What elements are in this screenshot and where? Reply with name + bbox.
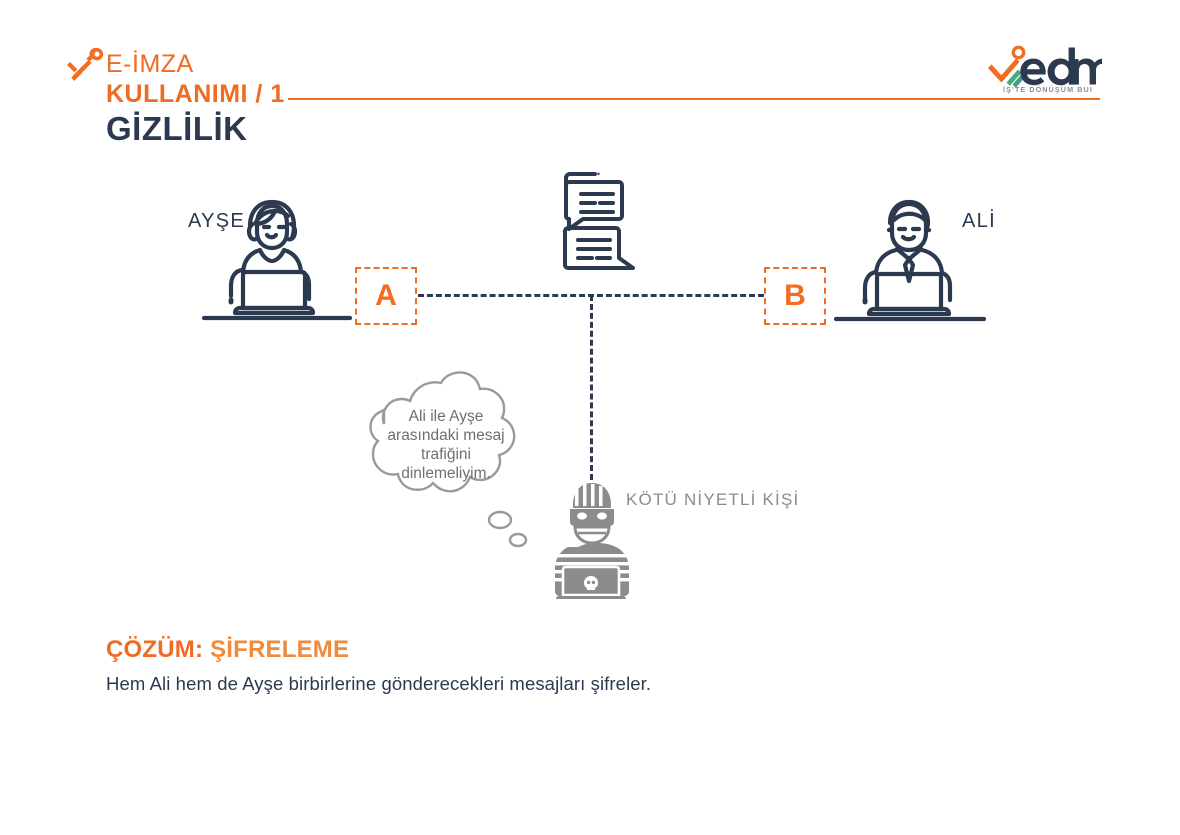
solution-heading: ÇÖZÜM: ŞİFRELEME xyxy=(106,636,1006,664)
key-box-a: A xyxy=(355,267,417,325)
brand-line-2: KULLANIMI / 1 xyxy=(106,82,285,107)
man-at-laptop-icon xyxy=(832,190,988,330)
brand-line-1: E-İMZA xyxy=(106,52,285,77)
edm-tagline: İŞ'TE DÖNÜŞÜM BUI xyxy=(994,85,1102,94)
brand-block: E-İMZA KULLANIMI / 1 xyxy=(106,52,285,107)
connection-line-vertical xyxy=(590,295,593,480)
solution-value: ŞİFRELEME xyxy=(210,636,349,663)
slide-canvas: E-İMZA KULLANIMI / 1 GİZLİLİK İŞ'TE DÖNÜ… xyxy=(0,0,1180,835)
solution-description: Hem Ali hem de Ayşe birbirlerine göndere… xyxy=(106,673,1006,695)
solution-label: ÇÖZÜM: xyxy=(106,636,203,663)
attacker-label: KÖTÜ NİYETLİ KİŞİ xyxy=(626,490,799,510)
footer-block: ÇÖZÜM: ŞİFRELEME Hem Ali hem de Ayşe bir… xyxy=(106,636,1006,695)
two-chat-bubbles-icon xyxy=(548,164,638,279)
woman-at-laptop-icon xyxy=(198,190,354,330)
header-divider-rule xyxy=(288,98,1100,100)
page-title: GİZLİLİK xyxy=(106,110,247,148)
hacker-at-laptop-icon xyxy=(548,475,644,605)
diagram-area: AYŞE ALİ KÖTÜ NİYETLİ KİŞİ A B xyxy=(0,150,1180,620)
key-box-b: B xyxy=(764,267,826,325)
thought-bubble-text: Ali ile Ayşe arasındaki mesaj trafiğini … xyxy=(360,408,532,484)
e-imza-check-key-icon xyxy=(64,44,112,94)
